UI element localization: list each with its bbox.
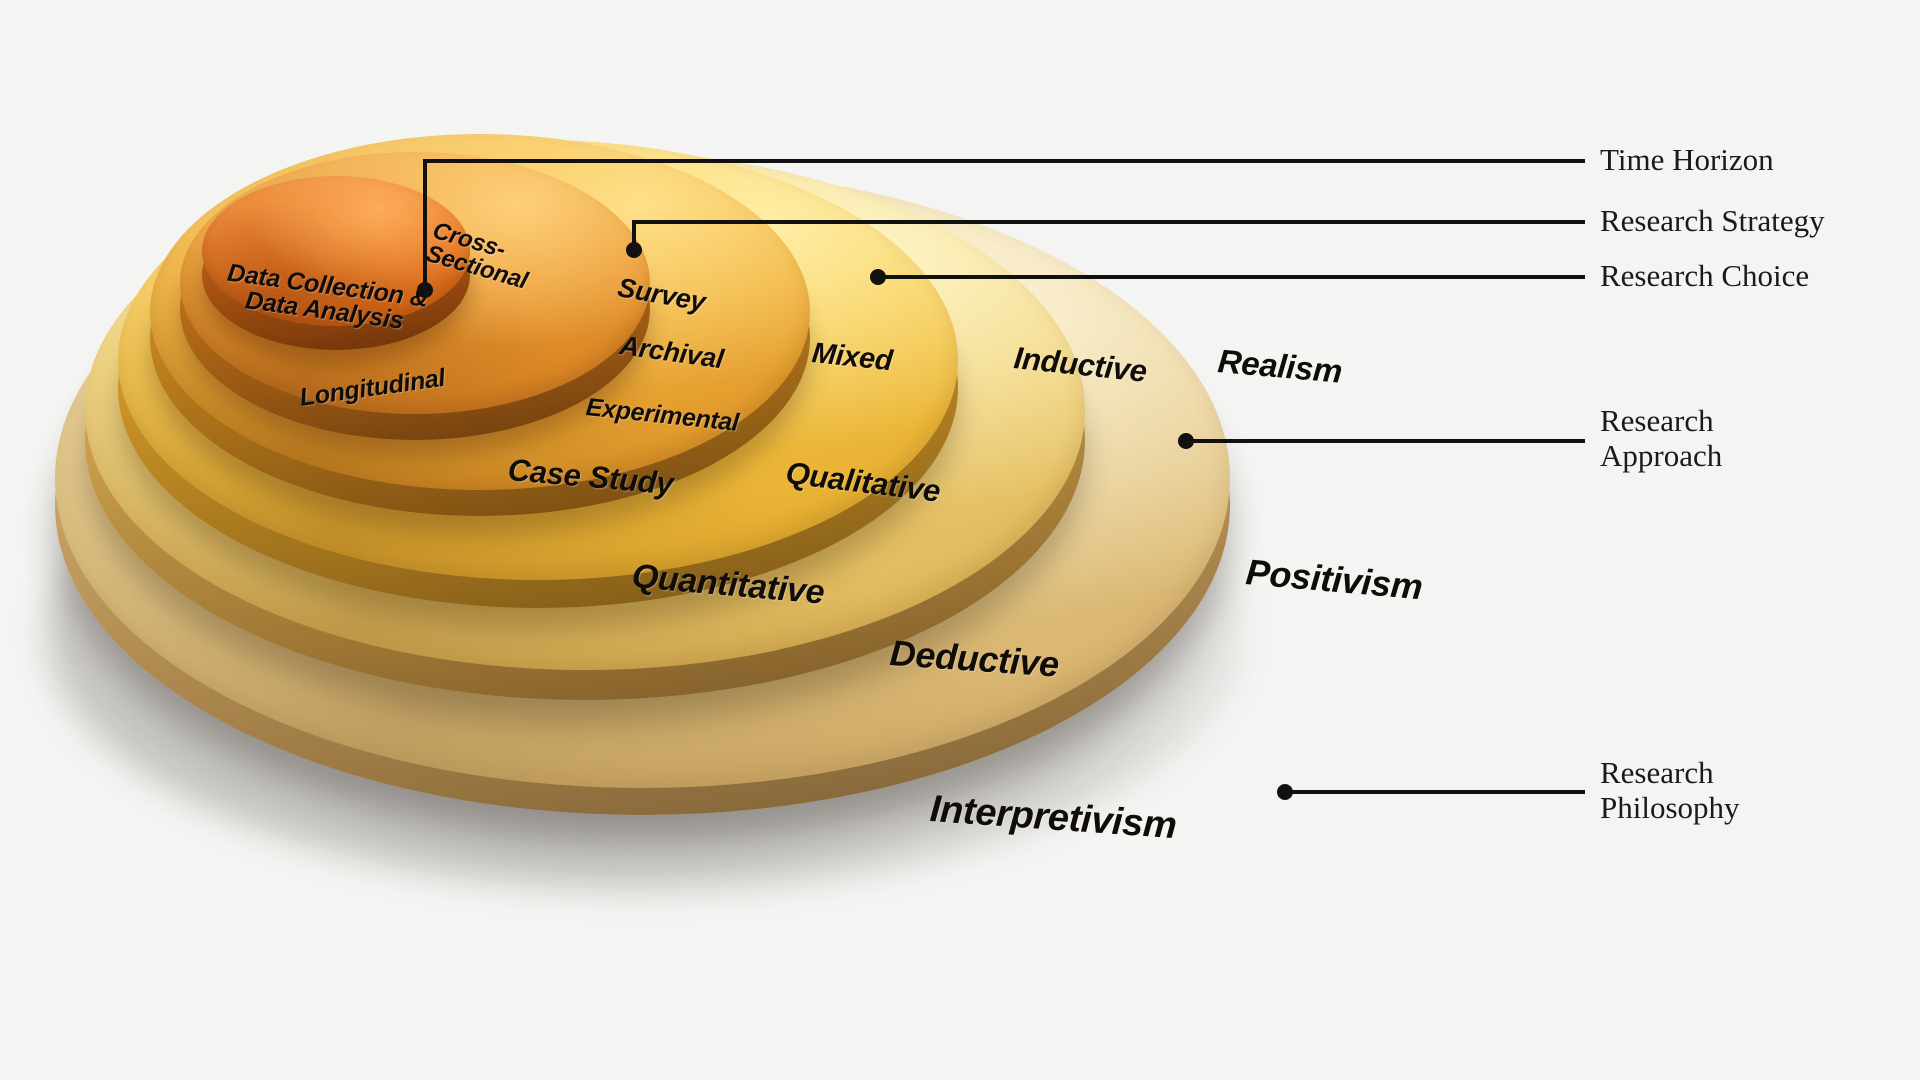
callout-research-approach[interactable]: Research Approach: [1600, 404, 1722, 473]
label-positivism: Positivism: [1244, 551, 1424, 608]
callout-research-strategy[interactable]: Research Strategy: [1600, 204, 1825, 239]
callout-research-choice[interactable]: Research Choice: [1600, 259, 1809, 294]
callout-time-horizon[interactable]: Time Horizon: [1600, 143, 1774, 178]
label-realism: Realism: [1216, 342, 1343, 391]
research-onion-diagram: Data Collection & Data Analysis Cross- S…: [0, 0, 1920, 1080]
callout-research-philosophy[interactable]: Research Philosophy: [1600, 756, 1740, 825]
